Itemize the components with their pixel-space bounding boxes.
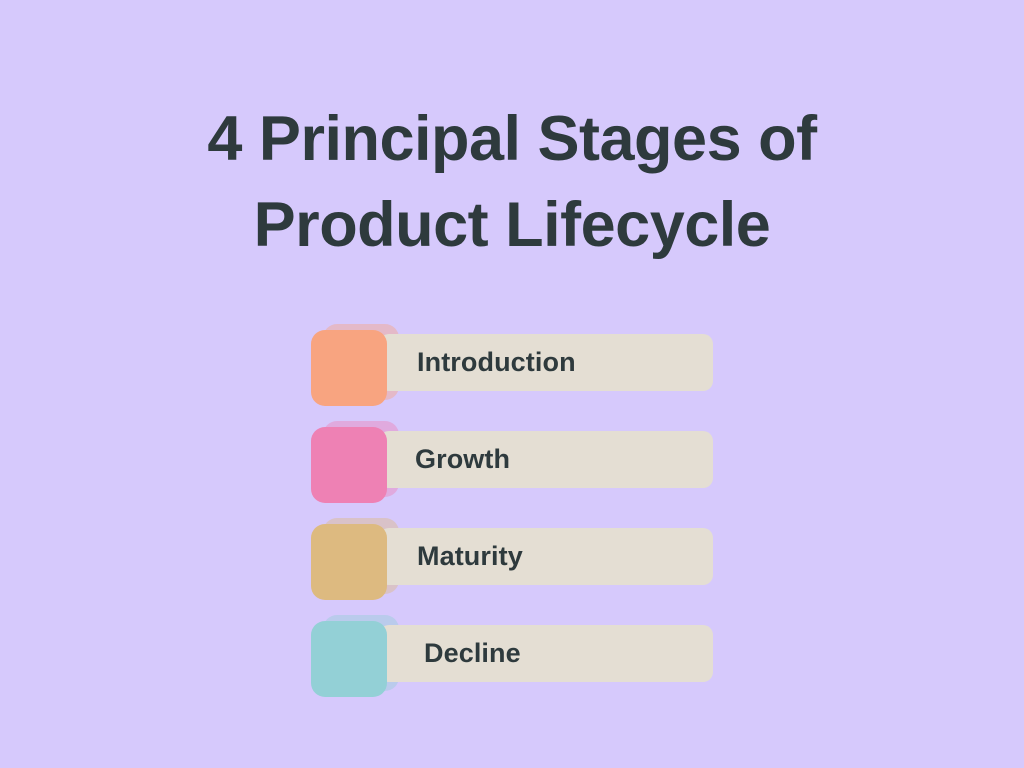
stage-swatch-maturity[interactable] [311,524,387,600]
stage-bar-introduction[interactable]: Introduction [379,334,713,391]
stage-swatch-introduction[interactable] [311,330,387,406]
list-item[interactable]: Growth [311,421,731,497]
stage-label-introduction: Introduction [417,347,576,378]
stage-label-maturity: Maturity [417,541,523,572]
list-item[interactable]: Maturity [311,518,731,594]
stage-bar-growth[interactable]: Growth [379,431,713,488]
page-title: 4 Principal Stages of Product Lifecycle [0,96,1024,268]
page-title-line-1: 4 Principal Stages of [0,96,1024,182]
stage-label-decline: Decline [424,638,521,669]
stage-label-growth: Growth [415,444,510,475]
stage-swatch-growth[interactable] [311,427,387,503]
slide-canvas: 4 Principal Stages of Product Lifecycle … [0,0,1024,768]
stage-bar-maturity[interactable]: Maturity [379,528,713,585]
list-item[interactable]: Introduction [311,324,731,400]
page-title-line-2: Product Lifecycle [0,182,1024,268]
list-item[interactable]: Decline [311,615,731,691]
stage-swatch-decline[interactable] [311,621,387,697]
stage-bar-decline[interactable]: Decline [379,625,713,682]
stage-list: Introduction Growth Maturity Decline [311,324,731,691]
